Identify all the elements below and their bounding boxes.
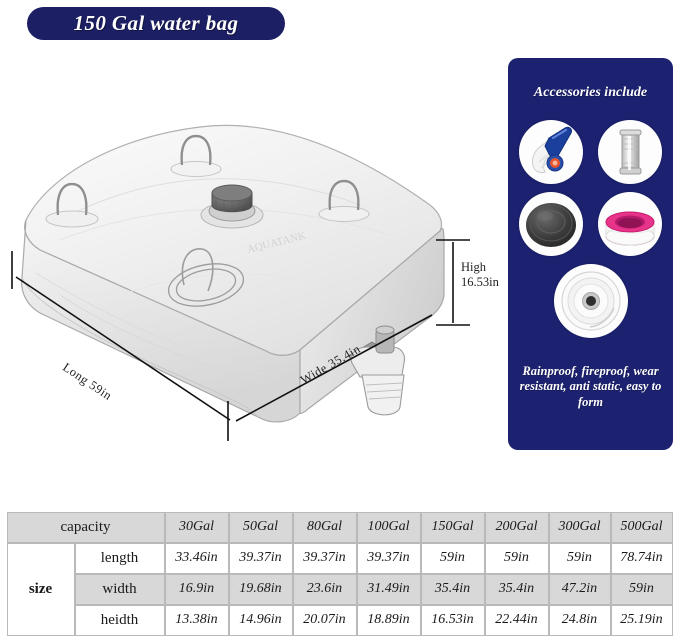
spec-cell-width-500gal: 59in — [611, 574, 673, 605]
spec-cell-heidth-80gal: 20.07in — [293, 605, 357, 636]
spec-cell-heidth-150gal: 16.53in — [421, 605, 485, 636]
spec-cell-width-50gal: 19.68in — [229, 574, 293, 605]
spec-row-label-width: width — [75, 574, 165, 605]
dimension-label-high-line1: High — [461, 260, 499, 275]
spec-table-body: capacity30Gal50Gal80Gal100Gal150Gal200Ga… — [7, 512, 673, 636]
accessories-row — [519, 264, 662, 338]
spec-cell-length-30gal: 33.46in — [165, 543, 229, 574]
spec-header-capacity-30gal: 30Gal — [165, 512, 229, 543]
spec-header-capacity-150gal: 150Gal — [421, 512, 485, 543]
spec-table-container: capacity30Gal50Gal80Gal100Gal150Gal200Ga… — [6, 511, 672, 636]
black-cap-icon — [519, 192, 583, 256]
spec-cell-width-200gal: 35.4in — [485, 574, 549, 605]
accessories-row — [519, 120, 662, 184]
accessories-row — [519, 192, 662, 256]
spec-row-label-heidth: heidth — [75, 605, 165, 636]
spec-header-capacity-200gal: 200Gal — [485, 512, 549, 543]
product-illustration: AQUATANK Long 5 — [0, 45, 500, 485]
spec-header-capacity-300gal: 300Gal — [549, 512, 611, 543]
spec-table-row: heidth13.38in14.96in20.07in18.89in16.53i… — [7, 605, 673, 636]
spec-row-label-size: size — [7, 543, 75, 636]
spec-cell-heidth-500gal: 25.19in — [611, 605, 673, 636]
spec-header-capacity-80gal: 80Gal — [293, 512, 357, 543]
spec-cell-heidth-300gal: 24.8in — [549, 605, 611, 636]
dimension-label-high: High 16.53in — [461, 260, 499, 290]
accessories-features-text: Rainproof, fireproof, wear resistant, an… — [514, 364, 667, 411]
spec-cell-length-200gal: 59in — [485, 543, 549, 574]
spec-cell-length-80gal: 39.37in — [293, 543, 357, 574]
spec-table: capacity30Gal50Gal80Gal100Gal150Gal200Ga… — [6, 511, 673, 636]
spec-header-capacity-500gal: 500Gal — [611, 512, 673, 543]
spec-cell-width-300gal: 47.2in — [549, 574, 611, 605]
spec-cell-heidth-50gal: 14.96in — [229, 605, 293, 636]
spec-table-row: sizelength33.46in39.37in39.37in39.37in59… — [7, 543, 673, 574]
spec-cell-width-30gal: 16.9in — [165, 574, 229, 605]
spec-cell-length-300gal: 59in — [549, 543, 611, 574]
spec-cell-heidth-30gal: 13.38in — [165, 605, 229, 636]
title-badge-label: 150 Gal water bag — [74, 11, 239, 36]
pink-tape-roll-icon — [598, 192, 662, 256]
spec-cell-length-150gal: 59in — [421, 543, 485, 574]
spec-cell-width-100gal: 31.49in — [357, 574, 421, 605]
spec-cell-length-100gal: 39.37in — [357, 543, 421, 574]
spec-cell-length-500gal: 78.74in — [611, 543, 673, 574]
spec-cell-heidth-200gal: 22.44in — [485, 605, 549, 636]
spec-cell-width-80gal: 23.6in — [293, 574, 357, 605]
spec-header-capacity-100gal: 100Gal — [357, 512, 421, 543]
spec-cell-heidth-100gal: 18.89in — [357, 605, 421, 636]
spec-header-capacity: capacity — [7, 512, 165, 543]
blue-ball-valve-icon — [519, 120, 583, 184]
spec-row-label-length: length — [75, 543, 165, 574]
spec-cell-width-150gal: 35.4in — [421, 574, 485, 605]
accessories-panel: Accessories include — [508, 58, 673, 450]
spec-cell-length-50gal: 39.37in — [229, 543, 293, 574]
spec-table-header-row: capacity30Gal50Gal80Gal100Gal150Gal200Ga… — [7, 512, 673, 543]
spec-header-capacity-50gal: 50Gal — [229, 512, 293, 543]
title-badge: 150 Gal water bag — [27, 7, 285, 40]
accessories-grid — [519, 120, 662, 346]
accessories-panel-title: Accessories include — [508, 85, 673, 101]
dimension-label-high-line2: 16.53in — [461, 275, 499, 290]
spec-table-row: width16.9in19.68in23.6in31.49in35.4in35.… — [7, 574, 673, 605]
metal-tube-icon — [598, 120, 662, 184]
white-cap-icon — [554, 264, 628, 338]
